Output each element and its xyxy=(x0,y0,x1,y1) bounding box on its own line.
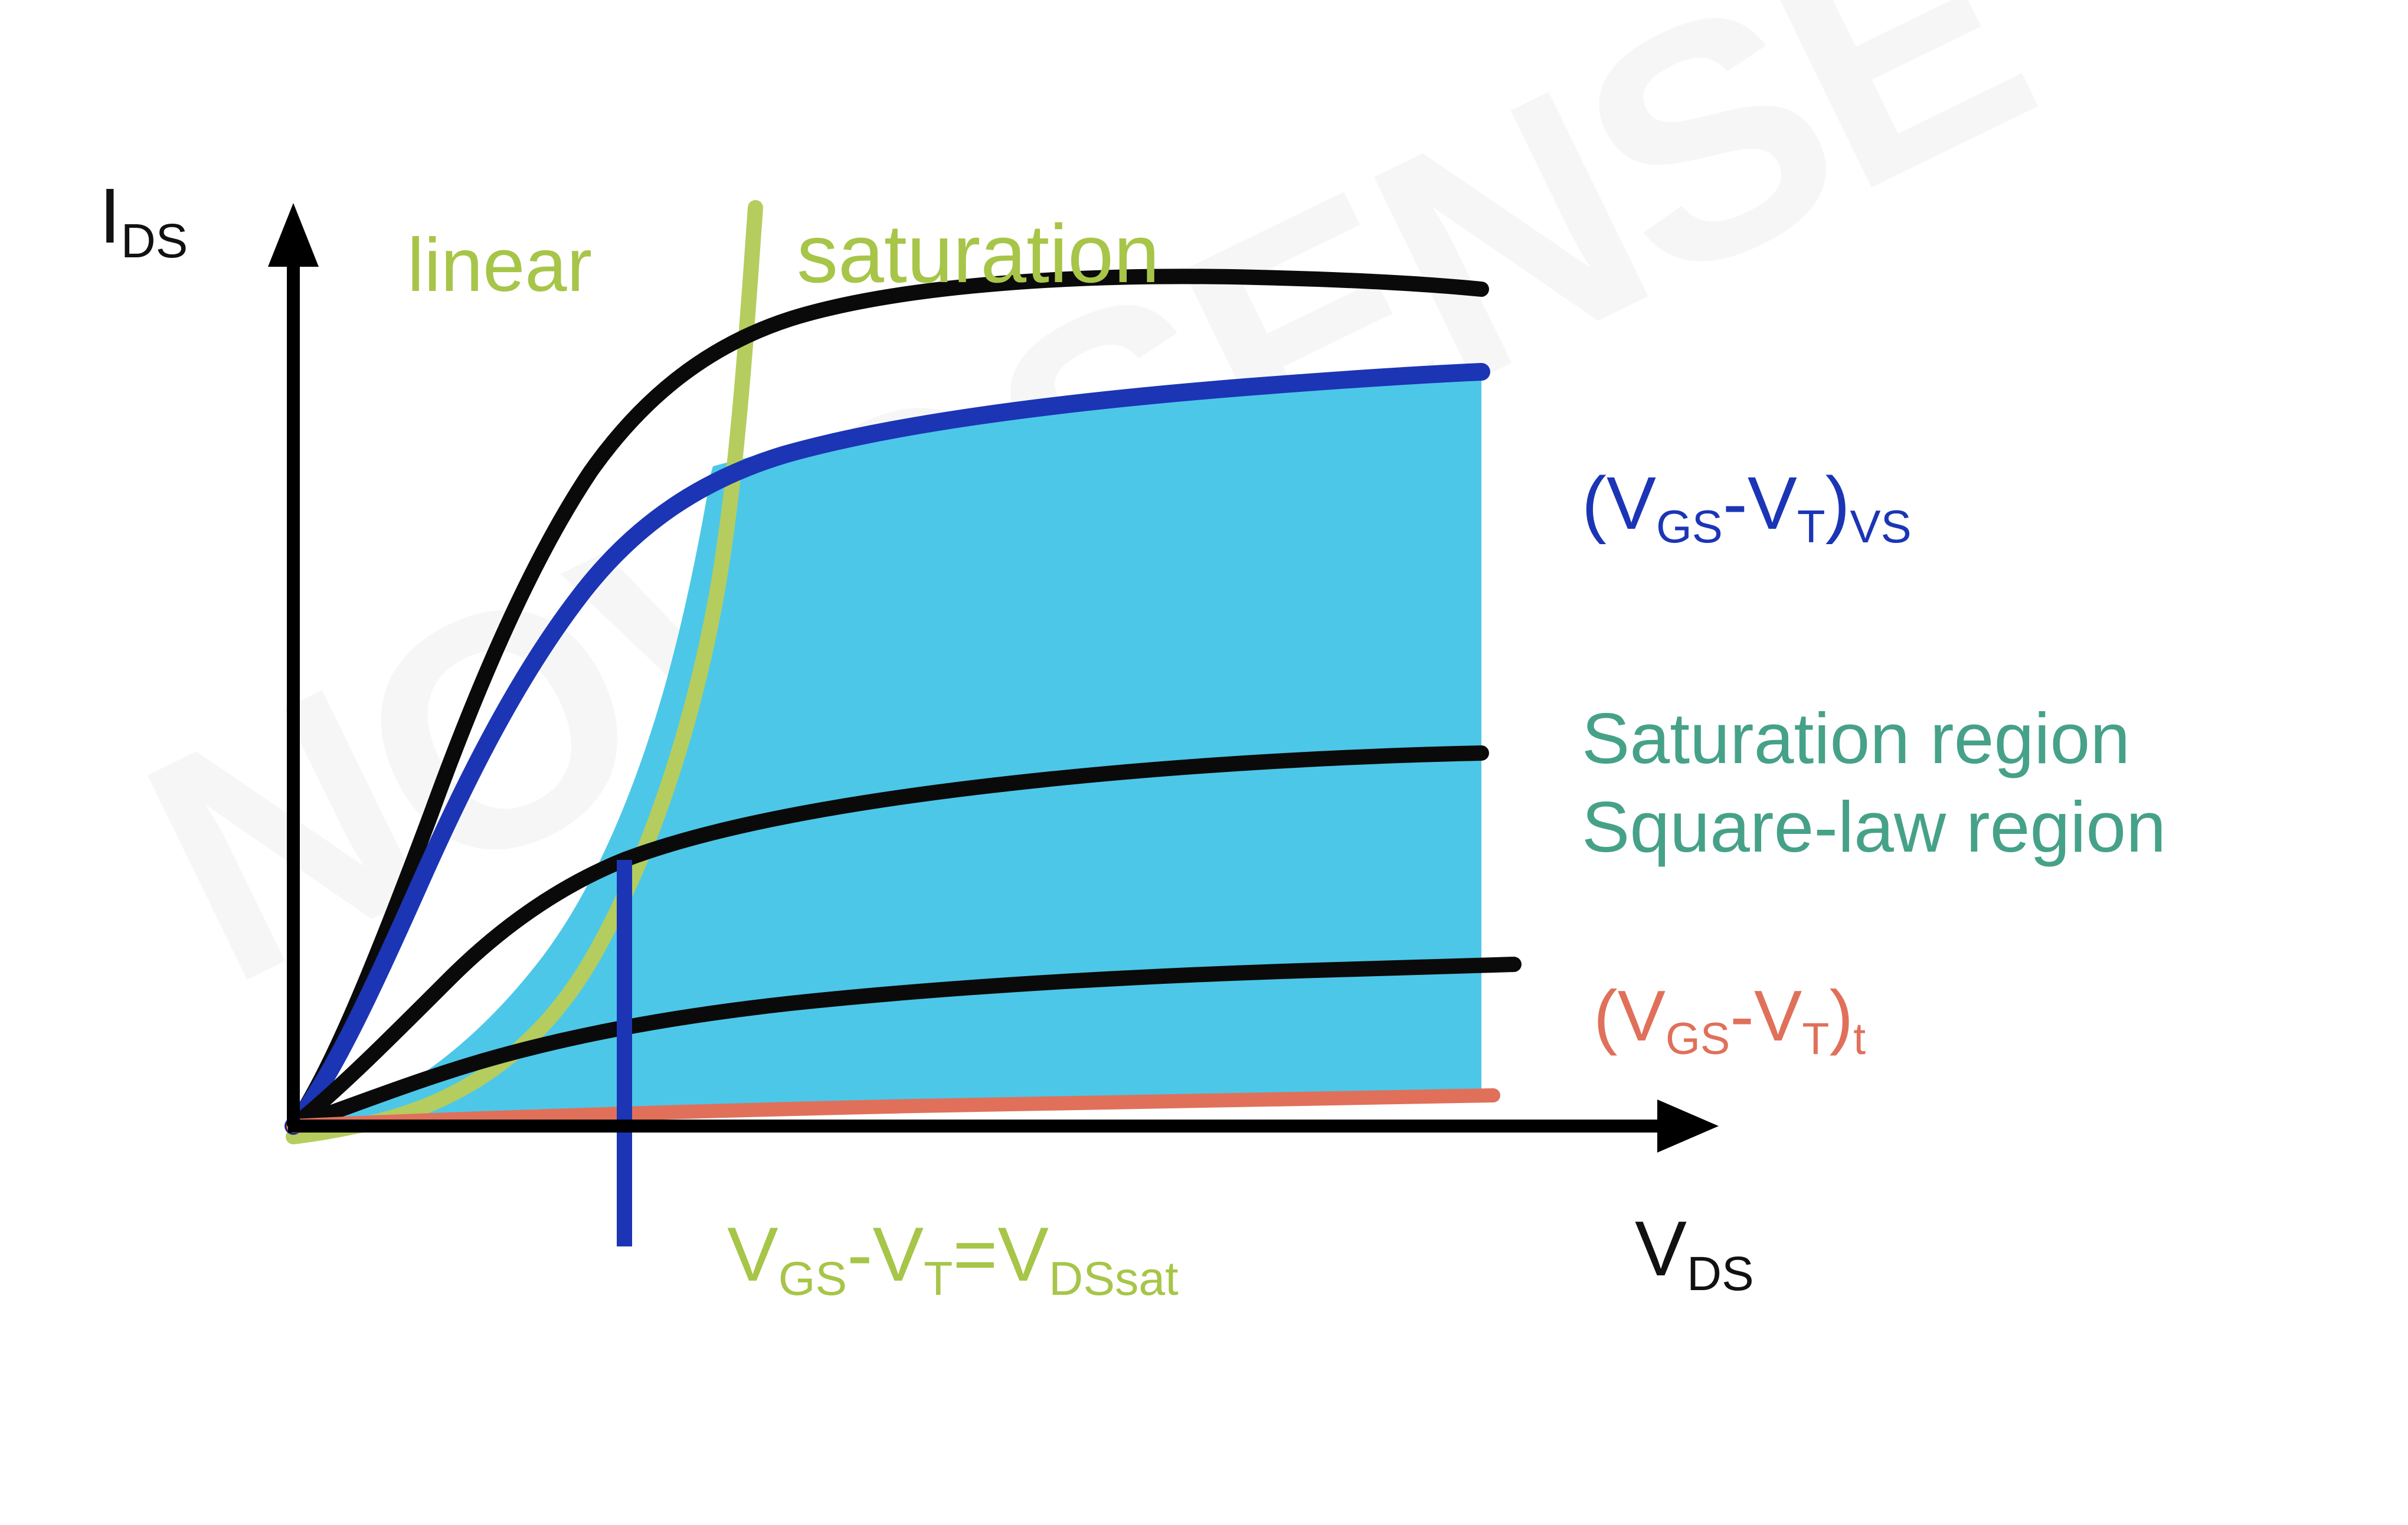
vdssat-part-1-sub: GS xyxy=(778,1252,847,1305)
saturation-region-fill xyxy=(293,373,1481,1126)
t-part-1-sub: GS xyxy=(1666,1015,1730,1064)
y-axis-label-base: I xyxy=(99,172,121,259)
t-part-1-base: (V xyxy=(1594,976,1666,1056)
vgs-vt-t-label: (VGS-VT)t xyxy=(1594,980,1866,1052)
vs-part-1-base: (V xyxy=(1582,462,1656,545)
x-axis-label-base: V xyxy=(1635,1205,1687,1292)
vdssat-equation-label: VGS-VT=VDSsat xyxy=(727,1216,1179,1292)
t-part-2-sub: T xyxy=(1802,1015,1829,1064)
vdssat-part-2-base: -V xyxy=(847,1211,924,1297)
square-law-region-annotation: Square-law region xyxy=(1582,791,2166,863)
vs-part-2-base: -V xyxy=(1723,462,1797,545)
y-axis-label-subscript: DS xyxy=(121,214,188,268)
saturation-region-label: saturation xyxy=(797,212,1160,295)
t-part-2-base: -V xyxy=(1730,976,1802,1056)
x-axis-label: VDS xyxy=(1635,1210,1754,1288)
vs-part-1-sub: GS xyxy=(1656,500,1723,552)
vdssat-part-3-base: =V xyxy=(953,1211,1049,1297)
vdssat-part-1-base: V xyxy=(727,1211,778,1297)
t-part-3-base: ) xyxy=(1829,976,1853,1056)
vs-part-3-sub: VS xyxy=(1850,500,1912,552)
vdssat-part-2-sub: T xyxy=(924,1252,953,1305)
t-part-3-sub: t xyxy=(1853,1015,1866,1064)
x-axis-arrowhead xyxy=(1657,1099,1719,1153)
y-axis-label: IDS xyxy=(99,177,188,255)
vs-part-3-base: ) xyxy=(1825,462,1850,545)
linear-region-label: linear xyxy=(407,228,592,303)
vgs-vt-vs-label: (VGS-VT)VS xyxy=(1582,466,1912,541)
vs-part-2-sub: T xyxy=(1797,500,1825,552)
vdssat-part-3-sub: DSsat xyxy=(1049,1252,1178,1305)
x-axis-label-subscript: DS xyxy=(1687,1247,1754,1301)
chart-figure: NOVOSENSE IDS VDS linear saturation VGS-… xyxy=(0,0,2408,1525)
y-axis-arrowhead xyxy=(268,203,319,267)
saturation-region-annotation: Saturation region xyxy=(1582,702,2130,774)
